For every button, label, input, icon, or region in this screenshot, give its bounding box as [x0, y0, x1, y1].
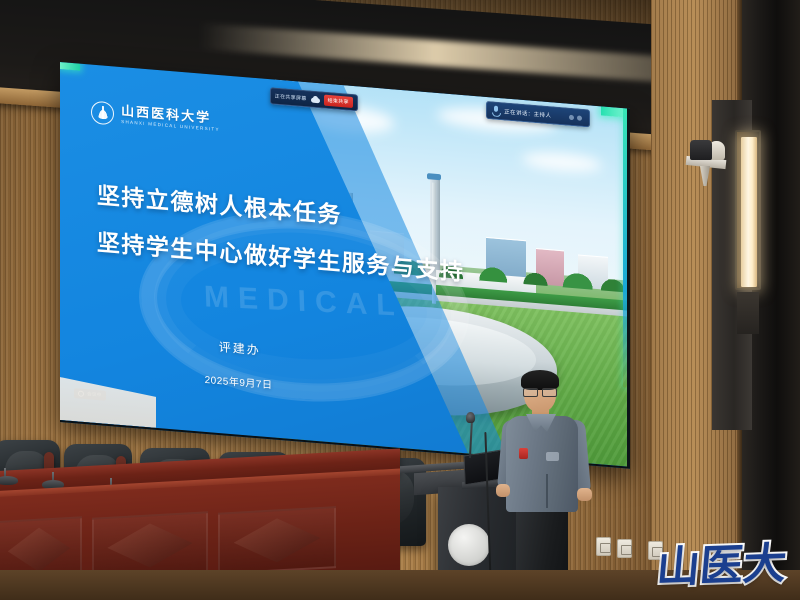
- wall-sconce-light: [735, 130, 761, 290]
- shirt-placket: [546, 474, 548, 508]
- active-speaker-label: 正在讲话：主持人: [504, 108, 551, 120]
- conference-room-scene: MEDICAL 山西医科大学 SHANXI MEDICAL UNIVERSITY…: [0, 0, 800, 600]
- slide-organization: 评建办: [219, 338, 261, 358]
- broadcast-watermark: 山医大: [655, 543, 788, 590]
- wall-socket-icon[interactable]: [596, 537, 611, 556]
- shirt-chest-logo: [546, 452, 559, 461]
- university-crest-icon: [91, 100, 114, 125]
- podium-emblem: [448, 524, 490, 566]
- cloud-recording-icon[interactable]: [311, 95, 320, 103]
- microphone-icon[interactable]: [492, 106, 499, 117]
- speaker-polo-shirt: [506, 416, 578, 512]
- speaker-right-hand: [577, 488, 592, 501]
- volume-control-icon[interactable]: [569, 115, 582, 121]
- control-dot: [577, 115, 582, 120]
- control-dot: [569, 115, 574, 120]
- speaker-person: [498, 368, 588, 600]
- table-panel-diamond: [218, 506, 336, 575]
- wall-socket-icon[interactable]: [617, 539, 632, 558]
- chimney-cap: [427, 173, 441, 180]
- eyeglasses-icon: [523, 388, 557, 395]
- desk-microphone-icon[interactable]: [0, 476, 18, 485]
- share-status-label: 正在共享屏幕: [275, 92, 307, 102]
- sconce-light-tube: [741, 137, 757, 287]
- speaker-left-hand: [496, 484, 510, 497]
- stop-share-button[interactable]: 结束共享: [324, 94, 353, 107]
- red-lapel-badge-icon: [519, 448, 528, 459]
- gooseneck-microphone-icon[interactable]: [466, 412, 475, 423]
- ptz-camera-icon: [690, 140, 712, 160]
- speaker-hair: [521, 370, 559, 390]
- sconce-base: [737, 292, 759, 334]
- led-edge-glow-vertical: [623, 108, 627, 388]
